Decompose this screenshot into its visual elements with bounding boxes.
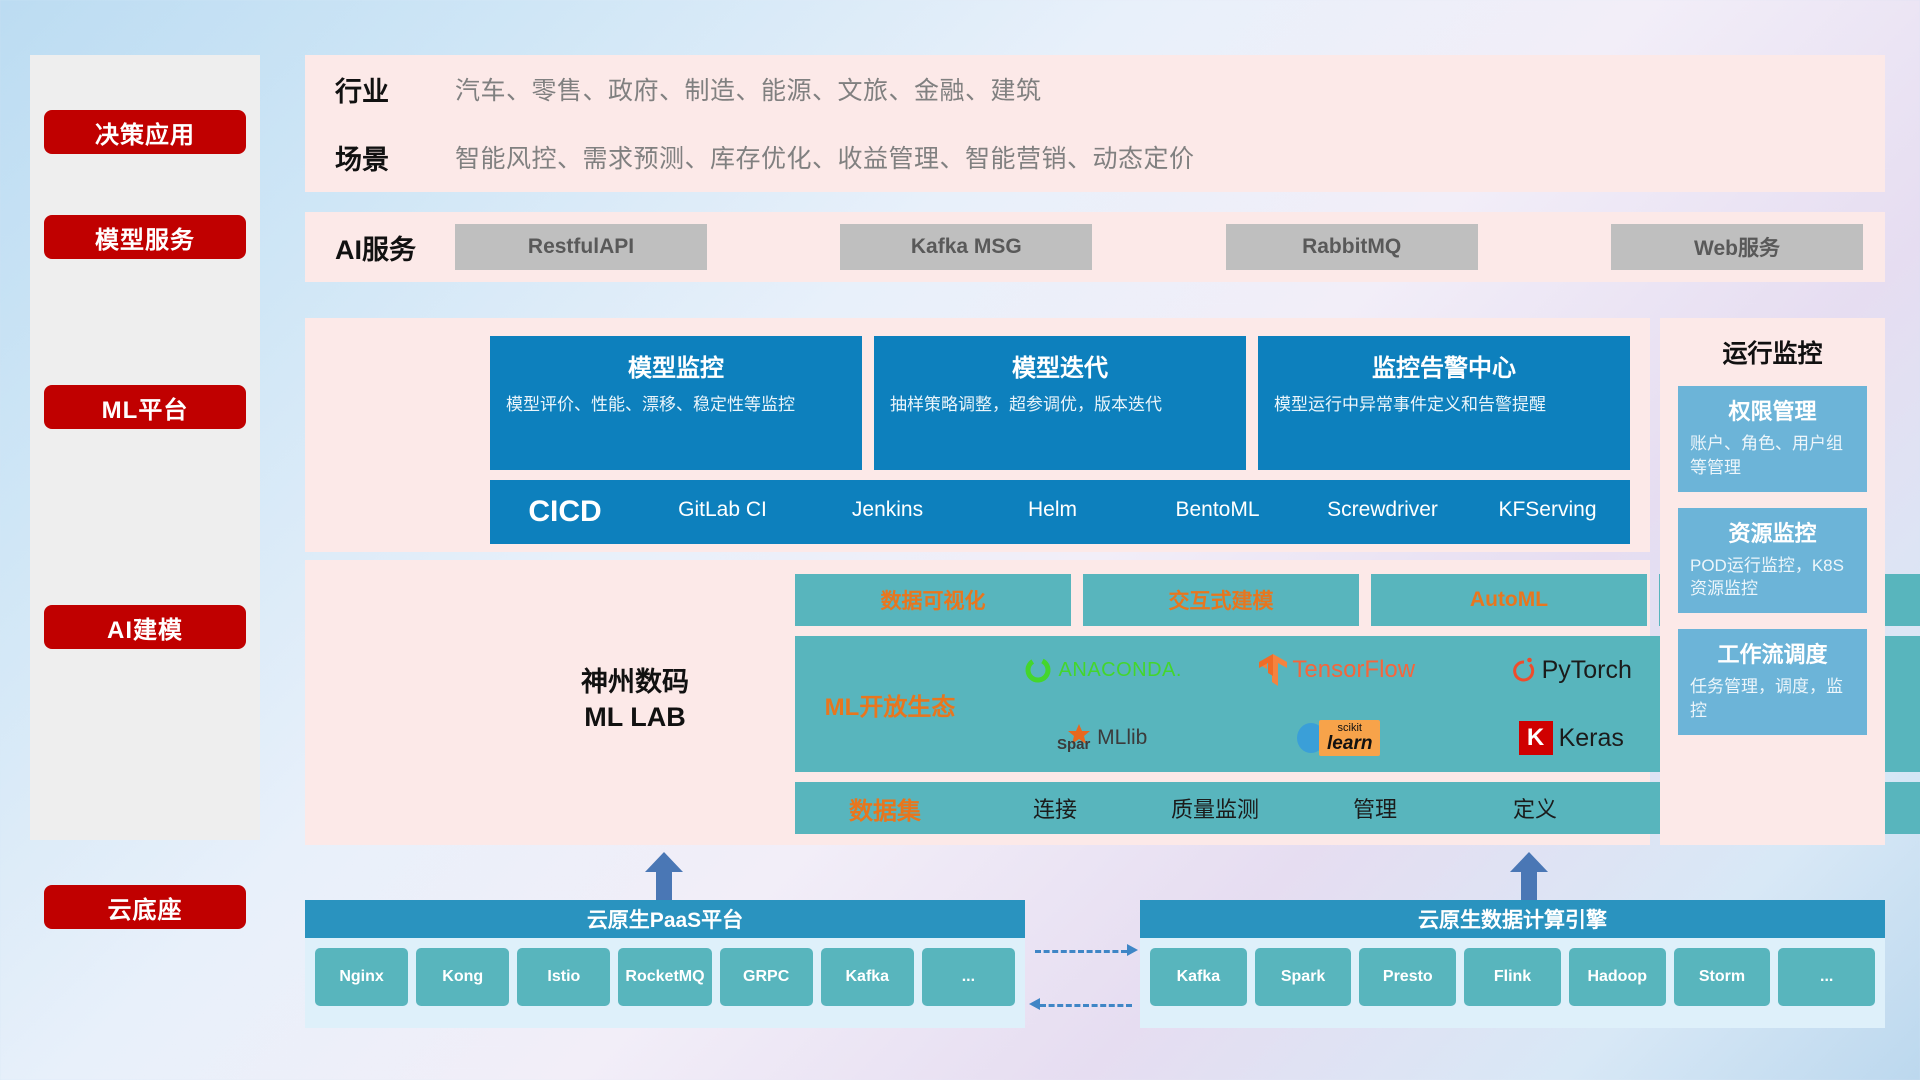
tensorflow-mark-icon: [1258, 653, 1288, 687]
tool-chip-automl[interactable]: AutoML: [1371, 574, 1647, 626]
rail-item-cloud-foundation[interactable]: 云底座: [44, 885, 246, 929]
tool-chip-data-visualization[interactable]: 数据可视化: [795, 574, 1071, 626]
monitor-card-resource[interactable]: 资源监控 POD运行监控，K8S资源监控: [1678, 508, 1867, 614]
cicd-item-jenkins[interactable]: Jenkins: [805, 480, 970, 524]
industry-row: 行业 汽车、零售、政府、制造、能源、文旅、金融、建筑: [305, 55, 1885, 123]
dataset-item-define[interactable]: 定义: [1455, 792, 1615, 824]
industry-label: 行业: [335, 70, 455, 109]
cloud-chip-istio[interactable]: Istio: [517, 948, 610, 1006]
ml-ecosystem-label: ML开放生态: [795, 636, 985, 772]
mlops-card-model-monitoring[interactable]: 模型监控 模型评价、性能、漂移、稳定性等监控: [490, 336, 862, 470]
ai-service-band: AI服务 RestfulAPI Kafka MSG RabbitMQ Web服务: [305, 212, 1885, 282]
monitor-card-desc: POD运行监控，K8S资源监控: [1690, 554, 1855, 602]
dataset-item-quality-monitor[interactable]: 质量监测: [1135, 792, 1295, 824]
cloud-chip-kafka[interactable]: Kafka: [821, 948, 914, 1006]
cicd-item-kfserving[interactable]: KFServing: [1465, 480, 1630, 524]
scenario-label: 场景: [335, 138, 455, 177]
monitor-card-desc: 账户、角色、用户组等管理: [1690, 432, 1855, 480]
monitor-card-desc: 任务管理，调度，监控: [1690, 675, 1855, 723]
cloud-paas-chip-group: Nginx Kong Istio RocketMQ GRPC Kafka ...: [305, 938, 1025, 1006]
svg-text:Spark: Spark: [1057, 736, 1091, 753]
cicd-label: CICD: [490, 480, 640, 544]
cloud-paas-box: 云原生PaaS平台 Nginx Kong Istio RocketMQ GRPC…: [305, 900, 1025, 1028]
monitor-card-permission[interactable]: 权限管理 账户、角色、用户组等管理: [1678, 386, 1867, 492]
keras-logo-text: Keras: [1559, 724, 1624, 753]
spark-mllib-logo-text: MLlib: [1097, 726, 1147, 750]
monitor-card-title: 工作流调度: [1690, 637, 1855, 669]
cloud-chip-storm[interactable]: Storm: [1674, 948, 1771, 1006]
cloud-chip-kafka-right[interactable]: Kafka: [1150, 948, 1247, 1006]
application-band: 行业 汽车、零售、政府、制造、能源、文旅、金融、建筑 场景 智能风控、需求预测、…: [305, 55, 1885, 192]
rail-item-model-service[interactable]: 模型服务: [44, 215, 246, 259]
pytorch-logo: PyTorch: [1511, 655, 1632, 685]
rail-item-decision-app[interactable]: 决策应用: [44, 110, 246, 154]
anaconda-mark-icon: [1023, 655, 1053, 685]
arrow-up-data-engine-icon: [1510, 852, 1548, 900]
tool-chip-interactive-modeling[interactable]: 交互式建模: [1083, 574, 1359, 626]
tensorflow-logo-text: TensorFlow: [1292, 656, 1415, 684]
rail-item-ml-platform[interactable]: ML平台: [44, 385, 246, 429]
dataset-item-connect[interactable]: 连接: [975, 792, 1135, 824]
anaconda-logo-text: ANACONDA.: [1059, 659, 1182, 682]
cicd-item-bentoml[interactable]: BentoML: [1135, 480, 1300, 524]
mlops-card-desc: 模型评价、性能、漂移、稳定性等监控: [506, 393, 846, 418]
ai-service-label: AI服务: [335, 228, 455, 267]
cloud-chip-kong[interactable]: Kong: [416, 948, 509, 1006]
mlops-card-title: 监控告警中心: [1274, 348, 1614, 383]
cloud-data-engine-chip-group: Kafka Spark Presto Flink Hadoop Storm ..…: [1140, 938, 1885, 1006]
keras-logo: K Keras: [1519, 721, 1624, 755]
cicd-item-group: GitLab CI Jenkins Helm BentoML Screwdriv…: [640, 480, 1630, 524]
mlops-card-group: 模型监控 模型评价、性能、漂移、稳定性等监控 模型迭代 抽样策略调整，超参调优，…: [490, 336, 1630, 470]
scenario-row: 场景 智能风控、需求预测、库存优化、收益管理、智能营销、动态定价: [305, 123, 1885, 191]
cloud-chip-spark[interactable]: Spark: [1255, 948, 1352, 1006]
mlops-card-desc: 抽样策略调整，超参调优，版本迭代: [890, 393, 1230, 418]
cloud-chip-rocketmq[interactable]: RocketMQ: [618, 948, 711, 1006]
service-chip-restfulapi[interactable]: RestfulAPI: [455, 224, 707, 270]
dataset-label: 数据集: [795, 791, 975, 826]
cloud-data-engine-title: 云原生数据计算引擎: [1140, 900, 1885, 938]
service-chip-kafka-msg[interactable]: Kafka MSG: [840, 224, 1092, 270]
spark-mllib-logo: Spark MLlib: [1057, 723, 1147, 753]
connector-right-dashed: [1035, 950, 1127, 953]
ml-lab-label-line2: ML LAB: [581, 700, 689, 735]
cloud-chip-presto[interactable]: Presto: [1359, 948, 1456, 1006]
cloud-chip-nginx[interactable]: Nginx: [315, 948, 408, 1006]
monitor-card-title: 资源监控: [1690, 516, 1855, 548]
cloud-chip-grpc[interactable]: GRPC: [720, 948, 813, 1006]
cicd-bar: CICD GitLab CI Jenkins Helm BentoML Scre…: [490, 480, 1630, 544]
cloud-chip-hadoop[interactable]: Hadoop: [1569, 948, 1666, 1006]
mlops-card-model-iteration[interactable]: 模型迭代 抽样策略调整，超参调优，版本迭代: [874, 336, 1246, 470]
connector-left-arrowhead-icon: [1029, 998, 1040, 1010]
scikit-learn-wordmark: scikit learn: [1319, 720, 1380, 757]
ml-lab-label: 神州数码 ML LAB: [581, 665, 689, 735]
rail-item-ai-modeling[interactable]: AI建模: [44, 605, 246, 649]
runtime-monitor-title: 运行监控: [1660, 334, 1885, 370]
mlops-card-desc: 模型运行中异常事件定义和告警提醒: [1274, 393, 1614, 418]
connector-left-dashed: [1040, 1004, 1132, 1007]
runtime-monitor-band: 运行监控 权限管理 账户、角色、用户组等管理 资源监控 POD运行监控，K8S资…: [1660, 318, 1885, 845]
scenario-values: 智能风控、需求预测、库存优化、收益管理、智能营销、动态定价: [455, 139, 1195, 175]
scikit-learn-logo: scikit learn: [1293, 720, 1380, 757]
cloud-chip-more-left[interactable]: ...: [922, 948, 1015, 1006]
connector-right-arrowhead-icon: [1127, 944, 1138, 956]
cloud-paas-title: 云原生PaaS平台: [305, 900, 1025, 938]
cicd-item-helm[interactable]: Helm: [970, 480, 1135, 524]
ml-lab-label-line1: 神州数码: [581, 665, 689, 700]
service-chip-web[interactable]: Web服务: [1611, 224, 1863, 270]
mlops-card-alert-center[interactable]: 监控告警中心 模型运行中异常事件定义和告警提醒: [1258, 336, 1630, 470]
modeling-band: 神州数码 ML LAB 数据可视化 交互式建模 AutoML JupyterLa…: [305, 560, 1650, 845]
cicd-item-gitlab-ci[interactable]: GitLab CI: [640, 480, 805, 524]
pytorch-mark-icon: [1511, 655, 1537, 685]
architecture-diagram: 决策应用 模型服务 ML平台 AI建模 云底座 行业 汽车、零售、政府、制造、能…: [0, 0, 1920, 1080]
monitor-card-title: 权限管理: [1690, 394, 1855, 426]
tensorflow-logo: TensorFlow: [1258, 653, 1415, 687]
cloud-chip-flink[interactable]: Flink: [1464, 948, 1561, 1006]
cicd-item-screwdriver[interactable]: Screwdriver: [1300, 480, 1465, 524]
mlops-card-title: 模型监控: [506, 348, 846, 383]
pytorch-logo-text: PyTorch: [1542, 656, 1632, 685]
dataset-item-manage[interactable]: 管理: [1295, 792, 1455, 824]
industry-values: 汽车、零售、政府、制造、能源、文旅、金融、建筑: [455, 71, 1042, 107]
anaconda-logo: ANACONDA.: [1023, 655, 1182, 685]
layer-rail: 决策应用 模型服务 ML平台 AI建模: [30, 55, 260, 840]
monitor-card-workflow[interactable]: 工作流调度 任务管理，调度，监控: [1678, 629, 1867, 735]
cloud-data-engine-box: 云原生数据计算引擎 Kafka Spark Presto Flink Hadoo…: [1140, 900, 1885, 1028]
mlops-card-title: 模型迭代: [890, 348, 1230, 383]
arrow-up-paas-icon: [645, 852, 683, 900]
keras-mark-icon: K: [1519, 721, 1553, 755]
ai-service-chips: RestfulAPI Kafka MSG RabbitMQ Web服务: [455, 224, 1885, 270]
mlops-band: MLOps 模型监控 模型评价、性能、漂移、稳定性等监控 模型迭代 抽样策略调整…: [305, 318, 1650, 552]
spark-mark-icon: Spark: [1057, 723, 1091, 753]
cloud-chip-more-right[interactable]: ...: [1778, 948, 1875, 1006]
service-chip-rabbitmq[interactable]: RabbitMQ: [1226, 224, 1478, 270]
